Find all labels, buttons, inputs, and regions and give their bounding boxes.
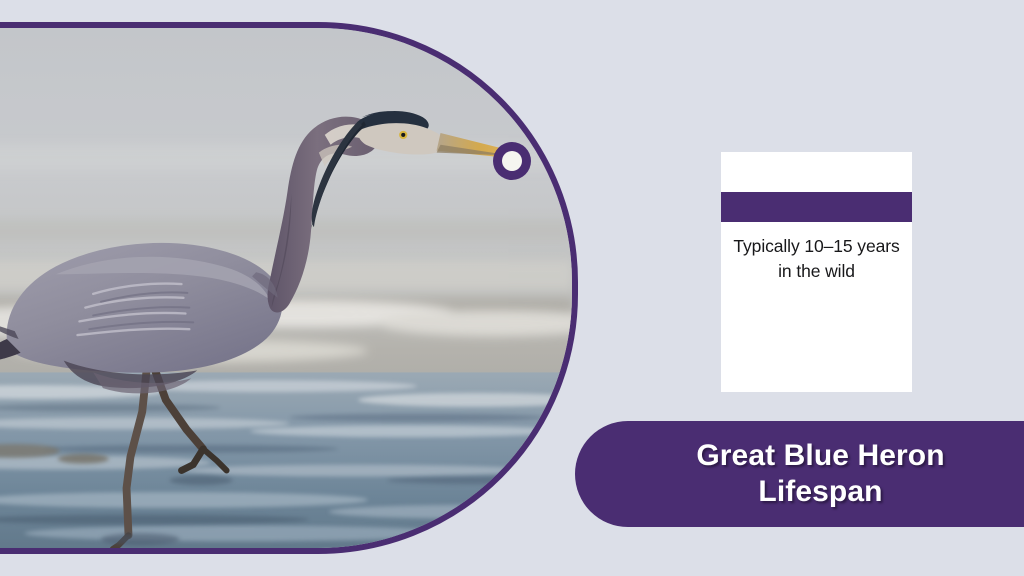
title-banner: Great Blue Heron Lifespan: [575, 421, 1024, 527]
heron-photo-image: [0, 28, 572, 548]
page-title: Great Blue Heron Lifespan: [696, 438, 944, 510]
card-accent-bar: [721, 192, 912, 222]
title-line-1: Great Blue Heron: [696, 439, 944, 472]
lifespan-body-text: Typically 10–15 years in the wild: [729, 234, 904, 284]
title-line-2: Lifespan: [758, 475, 882, 508]
circle-marker-center: [502, 151, 522, 171]
lifespan-info-card: Typically 10–15 years in the wild: [721, 152, 912, 392]
circle-marker-icon: [493, 142, 531, 180]
slide-canvas: Typically 10–15 years in the wild Great …: [0, 0, 1024, 576]
heron-photo-illustration: [0, 28, 572, 548]
heron-photo-panel: [0, 22, 578, 554]
